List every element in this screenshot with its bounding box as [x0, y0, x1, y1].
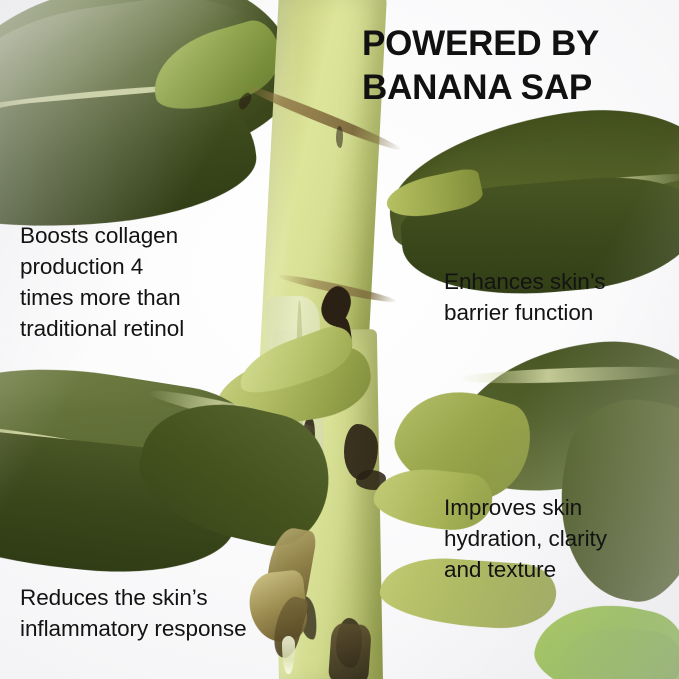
stalk-dark-base — [328, 623, 372, 679]
caption-line: traditional retinol — [20, 313, 235, 344]
caption-line: Enhances skin’s — [444, 266, 659, 297]
headline-line-1: POWERED BY — [362, 24, 599, 63]
caption-line: production 4 — [20, 251, 235, 282]
caption-line: and texture — [444, 554, 649, 585]
caption-boosts-collagen: Boosts collagen production 4 times more … — [20, 220, 235, 344]
caption-line: hydration, clarity — [444, 523, 649, 554]
product-benefit-infographic: POWERED BY BANANA SAP Boosts collagen pr… — [0, 0, 679, 679]
caption-line: times more than — [20, 282, 235, 313]
caption-improves-hydration: Improves skin hydration, clarity and tex… — [444, 492, 649, 585]
caption-reduces-inflammation: Reduces the skin’s inflammatory response — [20, 582, 310, 644]
leaf-top-left-underside — [0, 84, 261, 238]
headline: POWERED BY BANANA SAP — [362, 22, 662, 110]
stalk-blemish — [336, 126, 343, 148]
caption-line: Boosts collagen — [20, 220, 235, 251]
headline-line-2: BANANA SAP — [362, 68, 592, 107]
caption-line: Improves skin — [444, 492, 649, 523]
caption-line: inflammatory response — [20, 613, 310, 644]
caption-enhances-barrier: Enhances skin’s barrier function — [444, 266, 659, 328]
caption-line: barrier function — [444, 297, 659, 328]
caption-line: Reduces the skin’s — [20, 582, 310, 613]
